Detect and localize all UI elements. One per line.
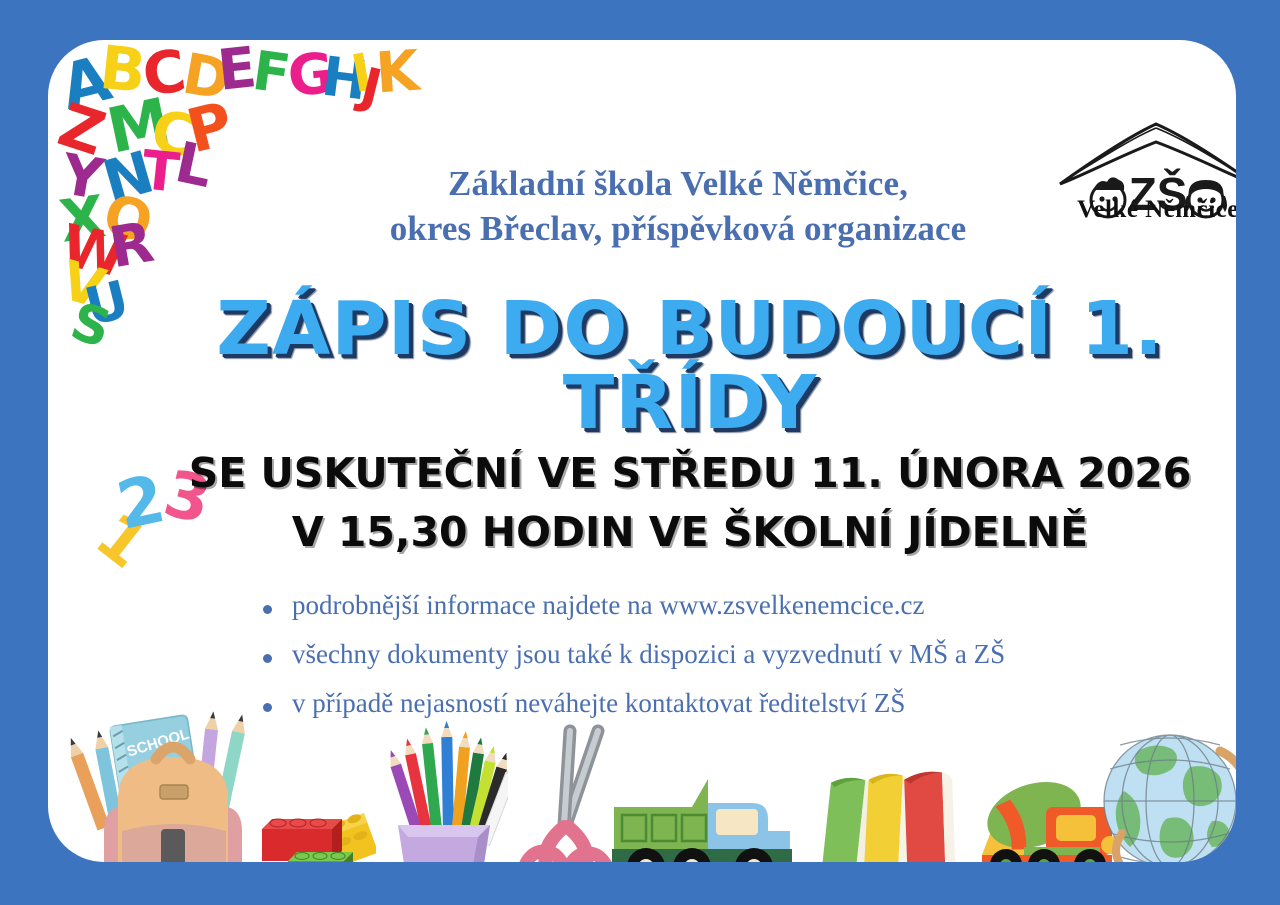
info-bullet-item: podrobnější informace najdete na www.zsv… [263,592,1143,619]
decor-letter-k-10: K [374,44,421,103]
illustration-strip: SCHOOL [48,700,1236,862]
pencil-cup-with-colored-pencils-icon [378,715,508,862]
page-title: ZÁPIS DO BUDOUCÍ 1. TŘÍDY [84,292,1236,440]
school-name-heading: Základní škola Velké Němčice, okres Břec… [248,162,1108,252]
school-name-line-1: Základní škola Velké Němčice, [248,162,1108,207]
dump-truck-icon [604,763,824,862]
stack-of-books-icon [814,761,964,862]
info-bullet-item: všechny dokumenty jsou také k dispozici … [263,641,1143,668]
info-bullet-text: všechny dokumenty jsou také k dispozici … [292,641,1005,668]
poster-root: ABCDEFGHIJKZMCPYNTLXOWRVUS 123 Základní … [0,0,1280,905]
info-bullet-text: podrobnější informace najdete na www.zsv… [292,592,924,619]
globe-icon [1094,715,1236,862]
bullet-dot-icon [263,654,272,663]
school-name-line-2: okres Břeclav, příspěvková organizace [248,207,1108,252]
poster-card: ABCDEFGHIJKZMCPYNTLXOWRVUS 123 Základní … [48,40,1236,862]
bullet-dot-icon [263,605,272,614]
lego-bricks-icon [256,793,376,862]
backpack-with-pencils-and-school-notebook-icon: SCHOOL [56,707,286,862]
event-date-line: SE USKUTEČNÍ VE STŘEDU 11. ÚNORA 2026 [96,444,1236,503]
event-details: SE USKUTEČNÍ VE STŘEDU 11. ÚNORA 2026 V … [96,444,1236,563]
school-logo: ZŠ Velké Němčice [1048,112,1236,227]
logo-place-name: Velké Němčice [1048,196,1236,224]
event-time-line: V 15,30 HODIN VE ŠKOLNÍ JÍDELNĚ [96,503,1236,562]
